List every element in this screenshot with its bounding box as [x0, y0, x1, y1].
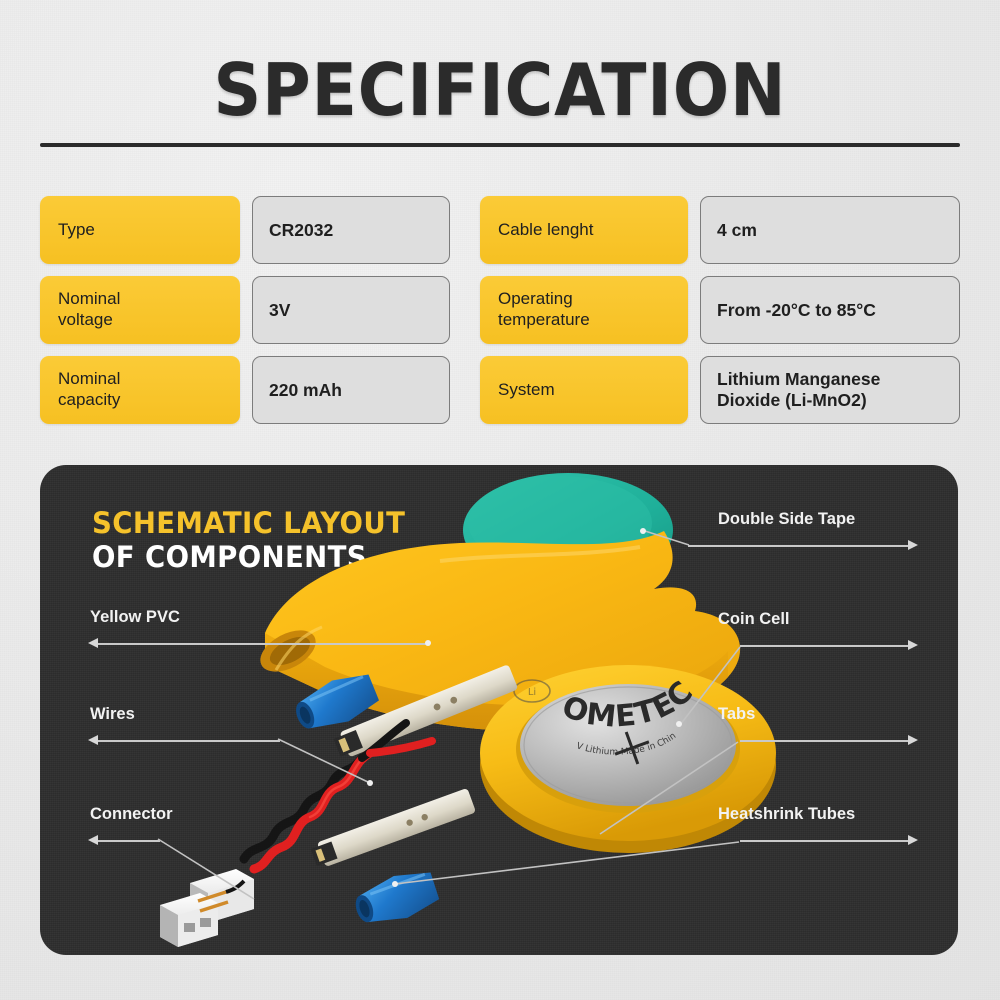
leader-line-double-side-tape: [688, 545, 910, 547]
leader-arrow-wires: [88, 735, 98, 745]
leader-line-yellow-pvc: [98, 643, 428, 645]
leader-arrow-heatshrink-tubes: [908, 835, 918, 845]
leader-line-wires: [98, 740, 280, 742]
leader-line-heatshrink-tubes: [740, 840, 910, 842]
leader-arrow-double-side-tape: [908, 540, 918, 550]
spec-label: Nominalcapacity: [40, 356, 240, 424]
spec-label: System: [480, 356, 688, 424]
leader-line-heatshrink-diagonal: [395, 842, 743, 892]
spec-value: 220 mAh: [252, 356, 450, 424]
spec-value: Lithium ManganeseDioxide (Li-MnO2): [700, 356, 960, 424]
callout-label-heatshrink-tubes: Heatshrink Tubes: [718, 805, 855, 824]
leader-dot-wires: [367, 780, 373, 786]
schematic-panel: SCHEMATIC LAYOUT OF COMPONENTS: [40, 465, 958, 955]
page-title: SPECIFICATION: [40, 48, 960, 132]
callout-label-connector: Connector: [90, 805, 173, 824]
leader-arrow-yellow-pvc: [88, 638, 98, 648]
spec-row: Nominalvoltage 3V: [40, 276, 450, 344]
leader-line-connector: [98, 840, 160, 842]
spec-column-right: Cable lenght 4 cm Operatingtemperature F…: [480, 196, 960, 424]
spec-column-left: Type CR2032 Nominalvoltage 3V Nominalcap…: [40, 196, 450, 424]
spec-label: Nominalvoltage: [40, 276, 240, 344]
callout-label-yellow-pvc: Yellow PVC: [90, 608, 180, 627]
spec-label: Operatingtemperature: [480, 276, 688, 344]
leader-line-wires-diagonal: [278, 737, 378, 789]
leader-arrow-tabs: [908, 735, 918, 745]
spec-row: System Lithium ManganeseDioxide (Li-MnO2…: [480, 356, 960, 424]
spec-row: Operatingtemperature From -20°C to 85°C: [480, 276, 960, 344]
callout-label-coin-cell: Coin Cell: [718, 610, 790, 629]
spec-row: Nominalcapacity 220 mAh: [40, 356, 450, 424]
leader-dot-coin-cell: [676, 721, 682, 727]
spec-value: From -20°C to 85°C: [700, 276, 960, 344]
spec-value: CR2032: [252, 196, 450, 264]
spec-label: Type: [40, 196, 240, 264]
leader-line-coin-cell: [740, 645, 910, 647]
leader-dot-heatshrink-tubes: [392, 881, 398, 887]
leader-line-connector-diagonal: [158, 837, 268, 907]
spec-value: 4 cm: [700, 196, 960, 264]
callout-label-tabs: Tabs: [718, 705, 755, 724]
leader-dot-yellow-pvc: [425, 640, 431, 646]
title-divider: [40, 143, 960, 147]
leader-line-tabs: [740, 740, 910, 742]
leader-arrow-coin-cell: [908, 640, 918, 650]
spec-label: Cable lenght: [480, 196, 688, 264]
spec-row: Type CR2032: [40, 196, 450, 264]
leader-line-tabs-diagonal: [600, 742, 745, 842]
callout-label-double-side-tape: Double Side Tape: [718, 510, 855, 529]
leader-dot-double-side-tape: [640, 528, 646, 534]
leader-arrow-connector: [88, 835, 98, 845]
spec-value: 3V: [252, 276, 450, 344]
svg-text:Li: Li: [528, 687, 536, 698]
callout-label-wires: Wires: [90, 705, 135, 724]
spec-row: Cable lenght 4 cm: [480, 196, 960, 264]
leader-line-tape-diagonal: [645, 531, 695, 555]
